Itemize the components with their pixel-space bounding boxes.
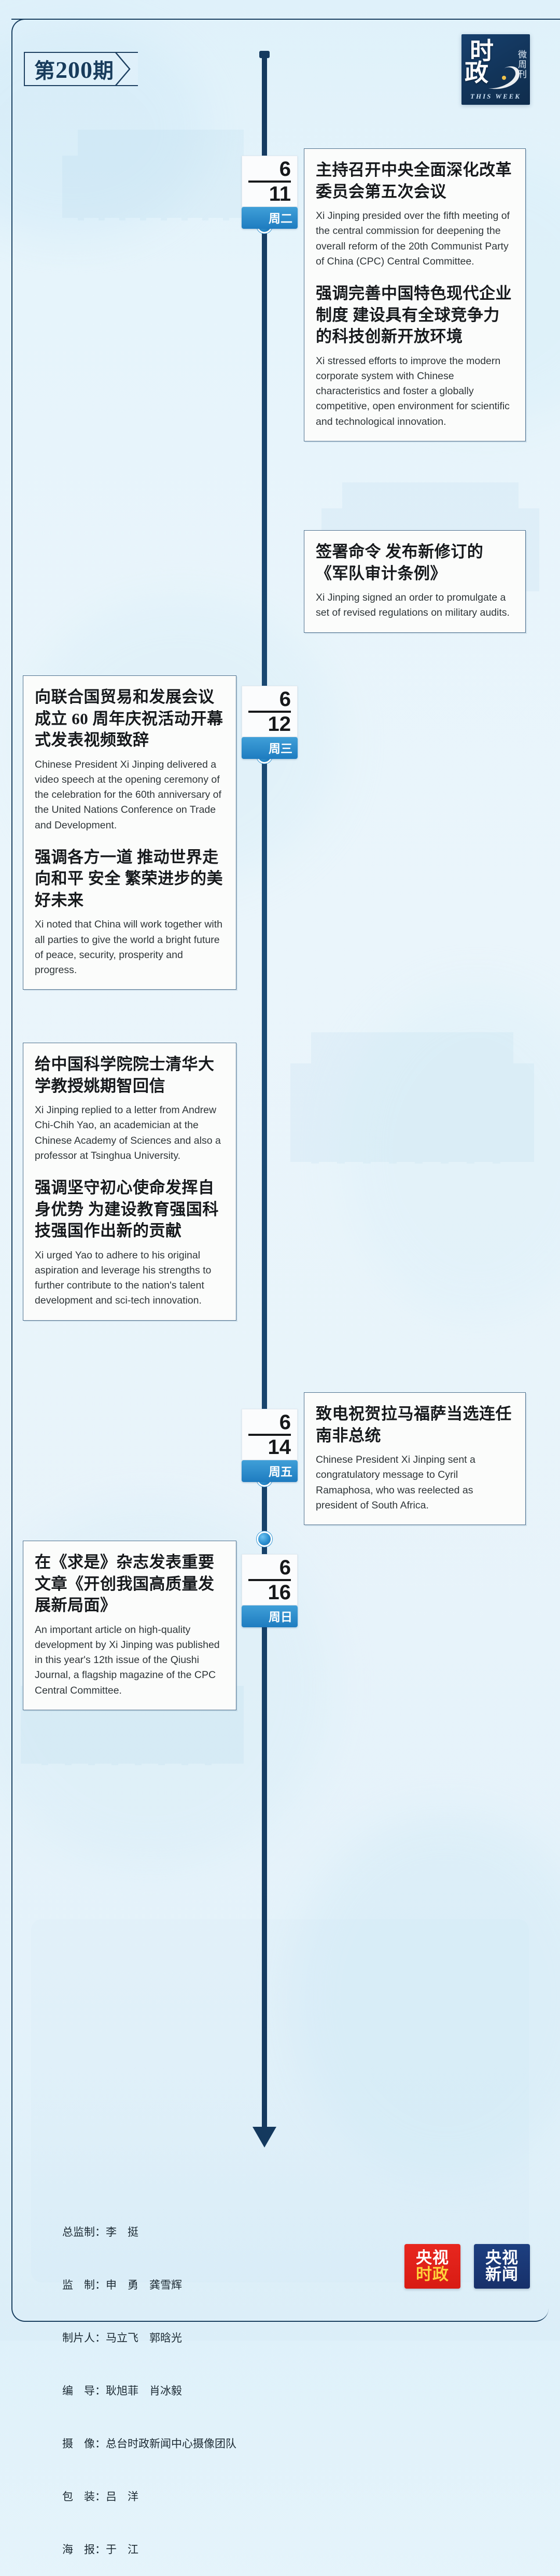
date-month: 6 bbox=[248, 1558, 291, 1577]
credit-role: 摄 像 bbox=[62, 2437, 95, 2450]
date-weekday: 周二 bbox=[242, 207, 298, 229]
credit-row: 编 导：耿旭菲 肖冰毅 bbox=[62, 2382, 236, 2400]
brand-logo-subtitle: 微周刊 bbox=[516, 50, 526, 79]
credit-role: 监 制 bbox=[62, 2279, 95, 2291]
news-card-south-africa[interactable]: 致电祝贺拉马福萨当选连任南非总统 Chinese President Xi Ji… bbox=[304, 1392, 526, 1525]
cctv-shizheng-logo[interactable]: 央视 时政 bbox=[404, 2244, 460, 2289]
news-block: 向联合国贸易和发展会议成立 60 周年庆祝活动开幕式发表视频致辞 Chinese… bbox=[35, 686, 225, 833]
news-block: 签署命令 发布新修订的《军队审计条例》 Xi Jinping signed an… bbox=[316, 541, 514, 621]
credit-names: 李 挺 bbox=[106, 2226, 138, 2238]
timeline-spine bbox=[262, 54, 267, 2131]
date-weekday: 周三 bbox=[242, 737, 298, 759]
news-block: 强调坚守初心使命发挥自身优势 为建设教育强国科技强国作出新的贡献 Xi urge… bbox=[35, 1177, 225, 1309]
news-card-yao-letter[interactable]: 给中国科学院院士清华大学教授姚期智回信 Xi Jinping replied t… bbox=[23, 1043, 236, 1321]
date-chip-0614: 6 14 周五 bbox=[242, 1409, 298, 1482]
news-summary-en: Xi noted that China will work together w… bbox=[35, 917, 225, 978]
date-month: 6 bbox=[248, 689, 291, 709]
brand-logo: 时 政 微周刊 THIS WEEK bbox=[461, 34, 530, 105]
news-block: 给中国科学院院士清华大学教授姚期智回信 Xi Jinping replied t… bbox=[35, 1054, 225, 1164]
issue-label: 第 bbox=[34, 59, 55, 82]
news-summary-en: Xi Jinping replied to a letter from Andr… bbox=[35, 1103, 225, 1164]
news-summary-en: Chinese President Xi Jinping delivered a… bbox=[35, 757, 225, 833]
credit-names: 申 勇 龚雪辉 bbox=[106, 2279, 182, 2291]
cctv-xinwen-line2: 新闻 bbox=[485, 2266, 519, 2283]
date-day: 16 bbox=[248, 1582, 291, 1603]
credits-block: 总监制：李 挺 监 制：申 勇 龚雪辉 制片人：马立飞 郭晗光 编 导：耿旭菲 … bbox=[62, 2188, 236, 2576]
news-summary-en: Xi Jinping presided over the fifth meeti… bbox=[316, 209, 514, 269]
news-card-qiushi-article[interactable]: 在《求是》杂志发表重要文章《开创我国高质量发展新局面》 An important… bbox=[23, 1541, 236, 1710]
credit-names: 吕 洋 bbox=[106, 2490, 138, 2503]
issue-number: 200 bbox=[55, 57, 93, 83]
news-block: 主持召开中央全面深化改革委员会第五次会议 Xi Jinping presided… bbox=[316, 159, 514, 269]
timeline-arrow-icon bbox=[253, 2127, 276, 2148]
timeline-dot bbox=[257, 1531, 272, 1547]
date-month: 6 bbox=[248, 1412, 291, 1432]
credit-row: 海 报：于 江 bbox=[62, 2541, 236, 2558]
news-summary-en: An important article on high-quality dev… bbox=[35, 1623, 225, 1698]
issue-arrow-icon bbox=[115, 52, 131, 86]
news-headline-zh: 向联合国贸易和发展会议成立 60 周年庆祝活动开幕式发表视频致辞 bbox=[35, 686, 225, 751]
poster-frame-top-rule bbox=[11, 19, 560, 20]
news-headline-zh: 签署命令 发布新修订的《军队审计条例》 bbox=[316, 541, 514, 584]
credit-names: 耿旭菲 肖冰毅 bbox=[106, 2385, 182, 2397]
date-month: 6 bbox=[248, 159, 291, 179]
news-headline-zh: 致电祝贺拉马福萨当选连任南非总统 bbox=[316, 1403, 514, 1446]
credit-row: 摄 像：总台时政新闻中心摄像团队 bbox=[62, 2435, 236, 2453]
cctv-shizheng-line2: 时政 bbox=[416, 2266, 449, 2283]
date-chip-0612: 6 12 周三 bbox=[242, 686, 298, 759]
issue-badge: 第200期 bbox=[24, 52, 138, 86]
date-day: 14 bbox=[248, 1437, 291, 1458]
news-summary-en: Xi urged Yao to adhere to his original a… bbox=[35, 1248, 225, 1309]
news-block: 致电祝贺拉马福萨当选连任南非总统 Chinese President Xi Ji… bbox=[316, 1403, 514, 1513]
credit-names: 于 江 bbox=[106, 2543, 138, 2556]
credit-names: 马立飞 郭晗光 bbox=[106, 2332, 182, 2344]
news-block: 在《求是》杂志发表重要文章《开创我国高质量发展新局面》 An important… bbox=[35, 1552, 225, 1698]
date-day: 11 bbox=[248, 184, 291, 204]
credit-row: 总监制：李 挺 bbox=[62, 2223, 236, 2241]
credit-role: 总监制 bbox=[62, 2226, 95, 2238]
credit-row: 监 制：申 勇 龚雪辉 bbox=[62, 2276, 236, 2294]
date-weekday: 周五 bbox=[242, 1460, 298, 1482]
news-headline-zh: 强调坚守初心使命发挥自身优势 为建设教育强国科技强国作出新的贡献 bbox=[35, 1177, 225, 1242]
date-day: 12 bbox=[248, 714, 291, 735]
news-headline-zh: 给中国科学院院士清华大学教授姚期智回信 bbox=[35, 1054, 225, 1097]
news-summary-en: Xi stressed efforts to improve the moder… bbox=[316, 354, 514, 430]
date-chip-0616: 6 16 周日 bbox=[242, 1554, 298, 1627]
news-summary-en: Chinese President Xi Jinping sent a cong… bbox=[316, 1452, 514, 1513]
credit-names: 总台时政新闻中心摄像团队 bbox=[106, 2437, 236, 2450]
news-headline-zh: 主持召开中央全面深化改革委员会第五次会议 bbox=[316, 159, 514, 202]
credit-role: 制片人 bbox=[62, 2332, 95, 2344]
news-block: 强调完善中国特色现代企业制度 建设具有全球竞争力的科技创新开放环境 Xi str… bbox=[316, 283, 514, 430]
brand-logo-english: THIS WEEK bbox=[461, 92, 530, 101]
news-block: 强调各方一道 推动世界走向和平 安全 繁荣进步的美好未来 Xi noted th… bbox=[35, 847, 225, 978]
date-weekday: 周日 bbox=[242, 1605, 298, 1627]
cctv-xinwen-line1: 央视 bbox=[485, 2250, 519, 2266]
news-headline-zh: 强调完善中国特色现代企业制度 建设具有全球竞争力的科技创新开放环境 bbox=[316, 283, 514, 348]
credit-role: 海 报 bbox=[62, 2543, 95, 2556]
news-card-military-audit[interactable]: 签署命令 发布新修订的《军队审计条例》 Xi Jinping signed an… bbox=[304, 530, 526, 633]
news-headline-zh: 强调各方一道 推动世界走向和平 安全 繁荣进步的美好未来 bbox=[35, 847, 225, 911]
credit-role: 包 装 bbox=[62, 2490, 95, 2503]
footer-logos: 央视 时政 央视 新闻 bbox=[404, 2244, 530, 2289]
credit-role: 编 导 bbox=[62, 2385, 95, 2397]
date-chip-0611: 6 11 周二 bbox=[242, 156, 298, 229]
news-card-reform-meeting[interactable]: 主持召开中央全面深化改革委员会第五次会议 Xi Jinping presided… bbox=[304, 148, 526, 441]
credit-row: 包 装：吕 洋 bbox=[62, 2488, 236, 2505]
credit-row: 制片人：马立飞 郭晗光 bbox=[62, 2329, 236, 2347]
cctv-xinwen-logo[interactable]: 央视 新闻 bbox=[474, 2244, 530, 2289]
issue-suffix: 期 bbox=[93, 59, 114, 82]
news-headline-zh: 在《求是》杂志发表重要文章《开创我国高质量发展新局面》 bbox=[35, 1552, 225, 1616]
cctv-shizheng-line1: 央视 bbox=[416, 2250, 449, 2266]
news-card-unctad-speech[interactable]: 向联合国贸易和发展会议成立 60 周年庆祝活动开幕式发表视频致辞 Chinese… bbox=[23, 675, 236, 990]
news-summary-en: Xi Jinping signed an order to promulgate… bbox=[316, 590, 514, 621]
